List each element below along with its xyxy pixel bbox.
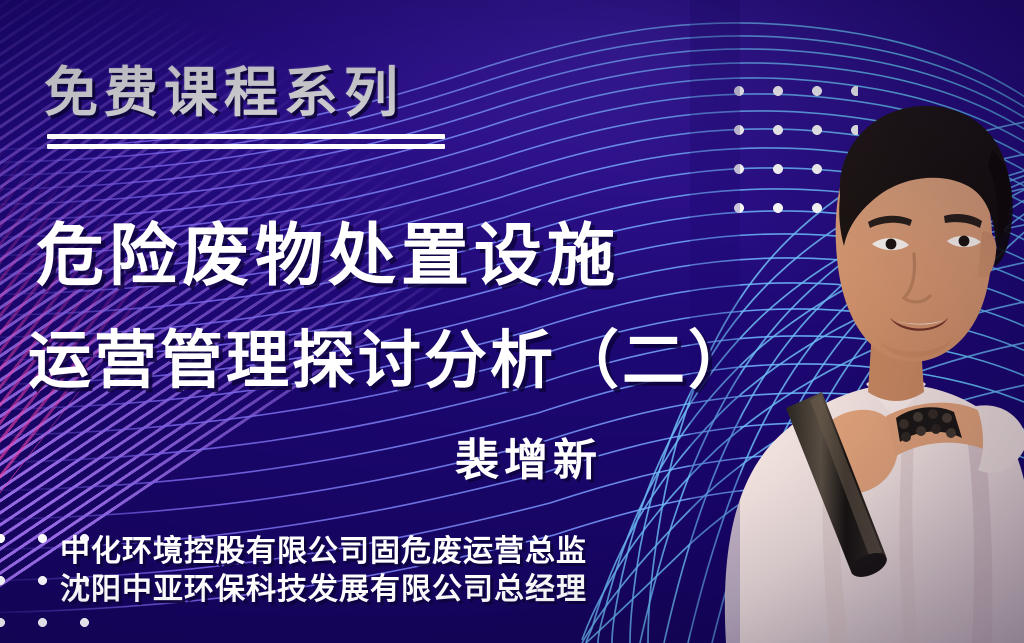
course-promo-poster: 免费课程系列 危险废物处置设施 运营管理探讨分析（二） 裴增新 中化环境控股有限… (0, 0, 1024, 643)
rule-line-bottom (47, 144, 445, 149)
page-title-line-1: 危险废物处置设施 (36, 200, 620, 299)
affiliation-line-1: 中化环境控股有限公司固危废运营总监 (60, 533, 587, 571)
page-title-line-2: 运营管理探讨分析（二） (28, 310, 754, 401)
double-rule-divider (47, 134, 445, 149)
speaker-name: 裴增新 (455, 424, 602, 488)
rule-line-top (47, 134, 445, 139)
page-kicker: 免费课程系列 (44, 48, 404, 127)
speaker-affiliations: 中化环境控股有限公司固危废运营总监 沈阳中亚环保科技发展有限公司总经理 (60, 533, 587, 609)
affiliation-line-2: 沈阳中亚环保科技发展有限公司总经理 (60, 571, 587, 609)
